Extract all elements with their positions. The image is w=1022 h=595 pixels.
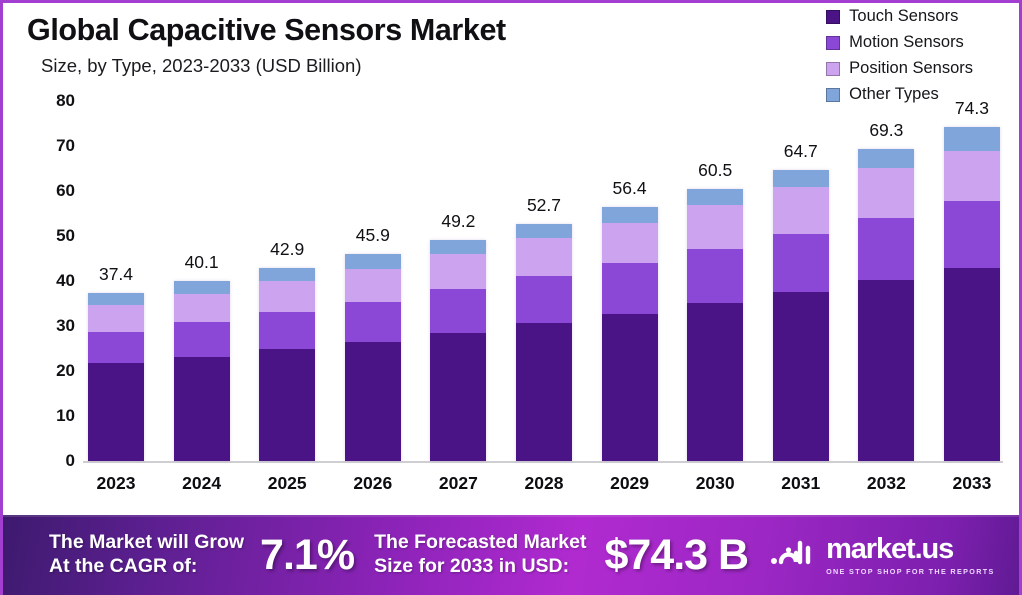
x-axis-tick-label: 2025 [256,473,318,494]
y-axis-tick-label: 20 [56,361,75,381]
legend-swatch-icon [826,10,840,24]
bar-segment [430,333,486,461]
forecast-label: The Forecasted Market Size for 2033 in U… [374,531,586,579]
bar-segment [944,127,1000,151]
bar-segment [773,292,829,461]
y-axis-tick-label: 40 [56,271,75,291]
bar-segment [259,281,315,312]
bar-stack [944,127,1000,461]
bar-segment [430,240,486,254]
bar-total-label: 40.1 [185,252,219,273]
y-axis-tick-label: 60 [56,181,75,201]
bar-column[interactable]: 45.9 [342,101,404,461]
bar-column[interactable]: 69.3 [855,101,917,461]
bar-segment [345,254,401,268]
bar-column[interactable]: 42.9 [256,101,318,461]
bar-column[interactable]: 37.4 [85,101,147,461]
cagr-label-line2: At the CAGR of: [49,555,244,579]
x-axis-tick-label: 2031 [770,473,832,494]
bar-segment [345,269,401,302]
bar-group: 37.440.142.945.949.252.756.460.564.769.3… [85,101,1003,461]
market-us-wordmark: market.us ONE STOP SHOP FOR THE REPORTS [826,535,995,576]
x-axis-labels: 2023202420252026202720282029203020312032… [85,473,1003,494]
x-axis-tick-label: 2027 [427,473,489,494]
y-axis-tick-label: 80 [56,91,75,111]
bar-stack [430,240,486,461]
bar-segment [944,268,1000,461]
x-axis-tick-label: 2030 [684,473,746,494]
bar-stack [174,281,230,461]
bar-column[interactable]: 74.3 [941,101,1003,461]
bar-segment [944,151,1000,201]
logo-tagline: ONE STOP SHOP FOR THE REPORTS [826,567,995,576]
bar-segment [430,289,486,333]
y-axis-tick-label: 70 [56,136,75,156]
bar-segment [773,234,829,293]
bar-segment [345,342,401,461]
bar-segment [858,168,914,218]
bar-segment [88,363,144,461]
bar-total-label: 37.4 [99,264,133,285]
bar-total-label: 60.5 [698,160,732,181]
bar-segment [602,207,658,222]
x-axis-tick-label: 2024 [171,473,233,494]
bar-segment [858,218,914,280]
market-us-logo[interactable]: market.us ONE STOP SHOP FOR THE REPORTS [770,535,995,576]
bar-stack [858,149,914,461]
bar-column[interactable]: 64.7 [770,101,832,461]
logo-name: market.us [826,535,953,564]
bar-segment [516,224,572,238]
bar-stack [259,268,315,461]
y-axis-tick-label: 30 [56,316,75,336]
legend-swatch-icon [826,36,840,50]
legend-swatch-icon [826,88,840,102]
cagr-label: The Market will Grow At the CAGR of: [49,531,244,579]
chart-header: Global Capacitive Sensors Market Size, b… [27,13,506,77]
bar-segment [88,332,144,364]
footer-banner: The Market will Grow At the CAGR of: 7.1… [3,515,1022,595]
bar-stack [687,189,743,461]
legend-swatch-icon [826,62,840,76]
cagr-label-line1: The Market will Grow [49,531,244,555]
bar-total-label: 69.3 [869,120,903,141]
bar-segment [773,170,829,188]
bar-segment [773,187,829,233]
bar-segment [944,201,1000,268]
bar-segment [858,149,914,168]
forecast-label-line2: Size for 2033 in USD: [374,555,586,579]
bar-total-label: 64.7 [784,141,818,162]
bar-column[interactable]: 40.1 [171,101,233,461]
legend-item[interactable]: Motion Sensors [826,33,973,52]
y-axis: 80706050403020100 [31,101,75,461]
bar-stack [516,224,572,461]
bar-column[interactable]: 49.2 [427,101,489,461]
x-axis-tick-label: 2033 [941,473,1003,494]
x-axis-tick-label: 2029 [599,473,661,494]
bar-segment [430,254,486,289]
bar-segment [88,293,144,305]
x-axis-baseline [83,461,1003,463]
bar-total-label: 49.2 [441,211,475,232]
forecast-block: The Forecasted Market Size for 2033 in U… [374,531,748,580]
legend-item-label: Touch Sensors [849,7,958,26]
forecast-value: $74.3 B [604,531,748,580]
bar-segment [259,268,315,282]
bar-segment [174,322,230,357]
bar-stack [602,207,658,461]
bar-total-label: 52.7 [527,195,561,216]
bar-segment [174,357,230,461]
forecast-label-line1: The Forecasted Market [374,531,586,555]
bar-segment [88,305,144,332]
bar-stack [88,293,144,461]
bar-stack [345,254,401,461]
bar-segment [516,323,572,461]
legend-item[interactable]: Position Sensors [826,59,973,78]
x-axis-tick-label: 2026 [342,473,404,494]
bar-segment [687,249,743,303]
y-axis-tick-label: 10 [56,406,75,426]
cagr-block: The Market will Grow At the CAGR of: 7.1… [49,531,354,580]
bar-total-label: 45.9 [356,225,390,246]
plot-area: 80706050403020100 37.440.142.945.949.252… [3,101,1019,513]
bar-segment [516,276,572,323]
bar-segment [687,189,743,206]
bar-column[interactable]: 52.7 [513,101,575,461]
bar-segment [516,238,572,276]
page-title: Global Capacitive Sensors Market [27,13,506,48]
bar-segment [259,349,315,461]
x-axis-tick-label: 2032 [855,473,917,494]
chart-legend: Touch SensorsMotion SensorsPosition Sens… [826,7,973,104]
y-axis-tick-label: 50 [56,226,75,246]
bar-segment [602,314,658,461]
legend-item-label: Position Sensors [849,59,973,78]
bar-segment [174,281,230,294]
bar-segment [174,294,230,323]
bar-segment [602,223,658,264]
bar-segment [602,263,658,313]
bar-segment [858,280,914,461]
bar-segment [687,303,743,461]
legend-item-label: Motion Sensors [849,33,964,52]
y-axis-tick-label: 0 [66,451,75,471]
bar-segment [687,205,743,249]
bar-column[interactable]: 60.5 [684,101,746,461]
market-us-mark-icon [770,536,816,575]
page-subtitle: Size, by Type, 2023-2033 (USD Billion) [41,55,506,77]
bar-column[interactable]: 56.4 [599,101,661,461]
bar-stack [773,170,829,461]
legend-item[interactable]: Touch Sensors [826,7,973,26]
cagr-value: 7.1% [260,531,354,580]
x-axis-tick-label: 2023 [85,473,147,494]
bar-segment [259,312,315,349]
x-axis-tick-label: 2028 [513,473,575,494]
bar-total-label: 42.9 [270,239,304,260]
bar-total-label: 56.4 [613,178,647,199]
bar-segment [345,302,401,343]
infographic-root: Global Capacitive Sensors Market Size, b… [0,0,1022,595]
bar-total-label: 74.3 [955,98,989,119]
